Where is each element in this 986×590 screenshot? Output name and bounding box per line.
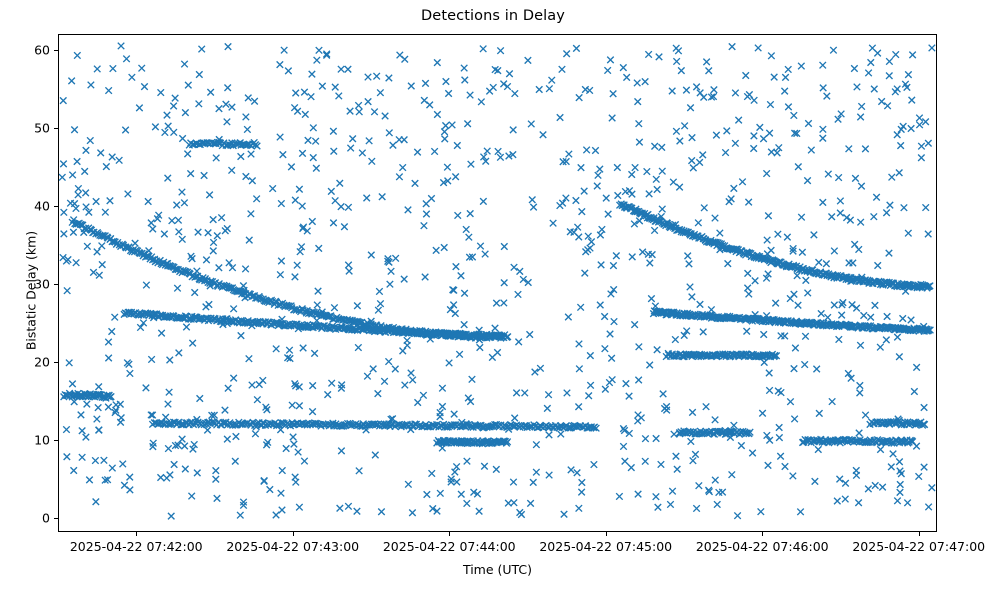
x-axis-tick-label: 2025-04-22 07:43:00 (226, 539, 359, 554)
plot-axes-frame (58, 34, 937, 532)
y-axis-tick-label: 0 (42, 510, 50, 525)
y-axis-tick-label: 60 (34, 42, 50, 57)
x-axis-tick-label: 2025-04-22 07:44:00 (383, 539, 516, 554)
page-title: Detections in Delay (0, 8, 986, 24)
scatter-plot-canvas (59, 35, 938, 533)
x-axis-tick-label: 2025-04-22 07:47:00 (852, 539, 985, 554)
x-axis-tick-label: 2025-04-22 07:46:00 (696, 539, 829, 554)
x-axis-tick-label: 2025-04-22 07:45:00 (539, 539, 672, 554)
y-axis-tick-label: 10 (34, 432, 50, 447)
y-axis-tick-label: 50 (34, 120, 50, 135)
y-axis-label: Bistatic Delay (km) (24, 166, 39, 416)
detections-in-delay-figure: Detections in Delay 0102030405060 2025-0… (0, 0, 986, 590)
x-axis-label: Time (UTC) (58, 562, 937, 577)
x-axis-tick-label: 2025-04-22 07:42:00 (70, 539, 203, 554)
